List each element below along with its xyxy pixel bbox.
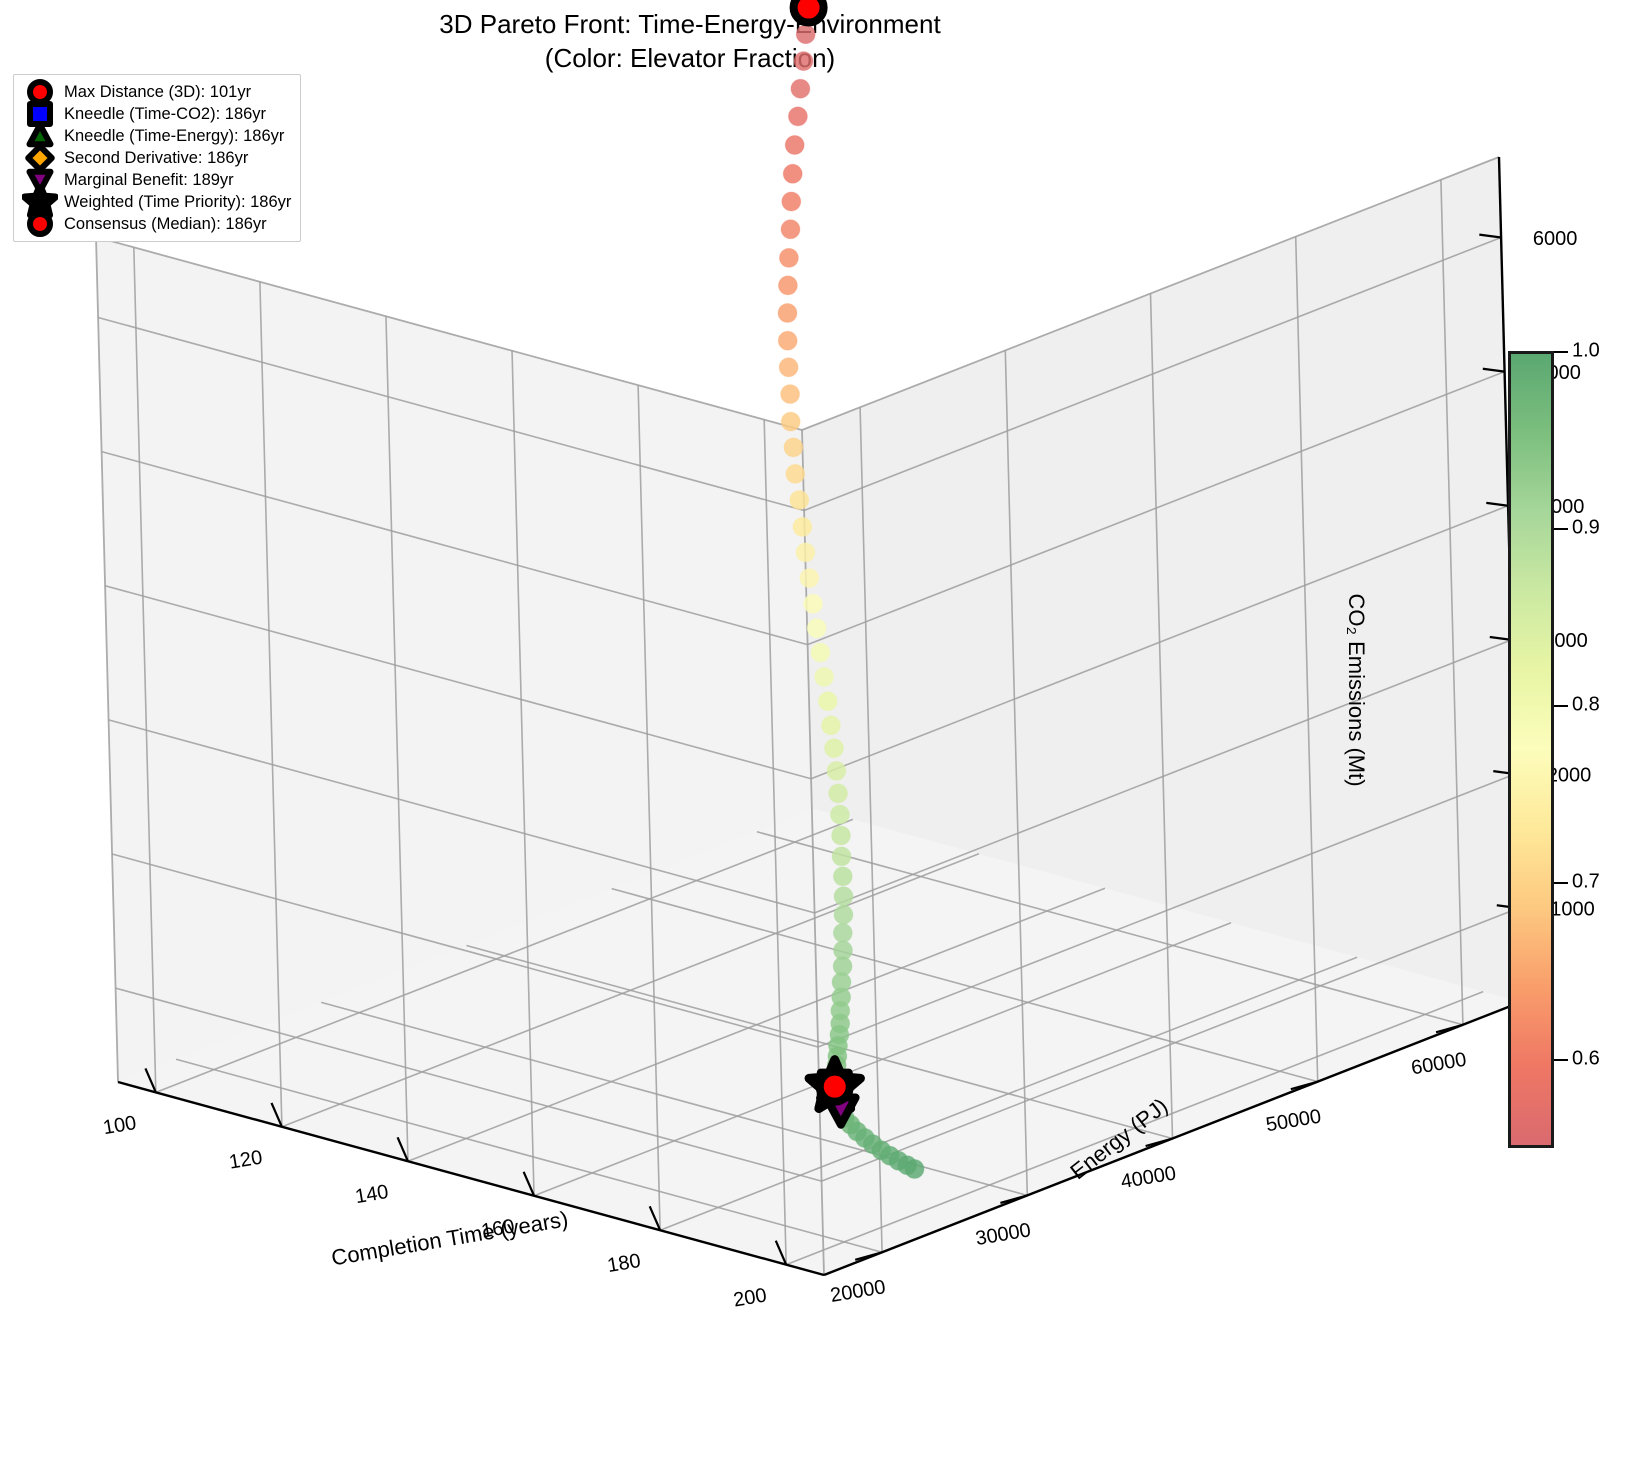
colorbar-tick bbox=[1554, 351, 1568, 353]
scatter-point bbox=[815, 667, 834, 686]
scatter-point bbox=[821, 716, 840, 735]
legend-item-label: Weighted (Time Priority): 186yr bbox=[64, 193, 291, 212]
scatter-point bbox=[794, 52, 813, 71]
scatter-point bbox=[800, 569, 819, 588]
legend-item-marginal-benefit[interactable]: Marginal Benefit: 189yr bbox=[20, 169, 291, 191]
scatter-point bbox=[783, 164, 802, 183]
scatter-point bbox=[834, 887, 853, 906]
legend-item-weighted-time-priority[interactable]: Weighted (Time Priority): 186yr bbox=[20, 191, 291, 213]
colorbar-tick bbox=[1554, 705, 1568, 707]
legend-item-kneedle-time-energy[interactable]: Kneedle (Time-Energy): 186yr bbox=[20, 125, 291, 147]
legend-box[interactable]: Max Distance (3D): 101yrKneedle (Time-CO… bbox=[13, 74, 301, 242]
legend-marker-circle-icon bbox=[20, 213, 60, 235]
colorbar-tick bbox=[1554, 1059, 1568, 1061]
scatter-point bbox=[804, 594, 823, 613]
svg-text:30000: 30000 bbox=[974, 1219, 1032, 1250]
scatter-point bbox=[784, 438, 803, 457]
scatter-point bbox=[796, 543, 815, 562]
svg-text:50000: 50000 bbox=[1264, 1105, 1322, 1136]
scatter-point bbox=[782, 192, 801, 211]
legend-glyph-circle-icon bbox=[30, 214, 50, 234]
scatter-point bbox=[788, 107, 807, 126]
scatter-point bbox=[905, 1160, 924, 1179]
scatter-point bbox=[830, 805, 849, 824]
scatter-point bbox=[832, 847, 851, 866]
legend-item-label: Marginal Benefit: 189yr bbox=[64, 171, 234, 190]
scatter-point bbox=[825, 739, 844, 758]
colorbar-gradient bbox=[1508, 351, 1554, 1148]
scatter-point bbox=[796, 25, 815, 44]
scatter-point bbox=[827, 761, 846, 780]
z-axis-title: CO₂ Emissions (Mt) bbox=[1344, 593, 1369, 786]
scatter-point bbox=[781, 412, 800, 431]
svg-text:6000: 6000 bbox=[1533, 228, 1578, 250]
highlight-consensus-median bbox=[820, 1072, 850, 1102]
legend-item-label: Max Distance (3D): 101yr bbox=[64, 83, 251, 102]
scatter-point bbox=[781, 220, 800, 239]
colorbar-tick bbox=[1554, 528, 1568, 530]
scatter-point bbox=[779, 358, 798, 377]
legend-item-label: Consensus (Median): 186yr bbox=[64, 215, 267, 234]
svg-text:140: 140 bbox=[354, 1181, 391, 1208]
svg-text:180: 180 bbox=[606, 1250, 643, 1277]
scatter-point bbox=[834, 905, 853, 924]
scatter-point bbox=[785, 136, 804, 155]
scatter-point bbox=[778, 276, 797, 295]
legend-item-label: Second Derivative: 186yr bbox=[64, 149, 248, 168]
scatter-point bbox=[778, 304, 797, 323]
scatter-point bbox=[781, 385, 800, 404]
legend-item-consensus-median[interactable]: Consensus (Median): 186yr bbox=[20, 213, 291, 235]
scatter-point bbox=[818, 692, 837, 711]
scatter-point bbox=[790, 491, 809, 510]
scatter-point bbox=[778, 331, 797, 350]
legend-item-max-distance-3d[interactable]: Max Distance (3D): 101yr bbox=[20, 81, 291, 103]
scatter-point bbox=[833, 867, 852, 886]
legend-item-kneedle-time-co2[interactable]: Kneedle (Time-CO2): 186yr bbox=[20, 103, 291, 125]
scatter-point bbox=[829, 784, 848, 803]
scatter-point bbox=[791, 79, 810, 98]
highlight-max-distance-3d bbox=[794, 0, 824, 23]
colorbar-tick bbox=[1554, 882, 1568, 884]
colorbar[interactable]: 1.00.90.80.70.6 bbox=[1508, 351, 1554, 1148]
legend-item-label: Kneedle (Time-CO2): 186yr bbox=[64, 105, 266, 124]
scatter-point bbox=[807, 619, 826, 638]
scatter-point bbox=[779, 248, 798, 267]
scatter-point bbox=[833, 923, 852, 942]
svg-text:60000: 60000 bbox=[1410, 1049, 1468, 1080]
svg-text:100: 100 bbox=[101, 1112, 138, 1139]
svg-text:20000: 20000 bbox=[829, 1276, 887, 1307]
svg-text:120: 120 bbox=[228, 1146, 265, 1173]
svg-text:200: 200 bbox=[732, 1284, 769, 1311]
scatter-point bbox=[793, 517, 812, 536]
legend-item-label: Kneedle (Time-Energy): 186yr bbox=[64, 127, 284, 146]
scatter-point bbox=[832, 826, 851, 845]
legend-item-second-derivative[interactable]: Second Derivative: 186yr bbox=[20, 147, 291, 169]
scatter-point bbox=[786, 464, 805, 483]
x-axis-title: Completion Time (years) bbox=[329, 1206, 569, 1270]
svg-text:40000: 40000 bbox=[1119, 1162, 1177, 1193]
scatter-point bbox=[811, 643, 830, 662]
